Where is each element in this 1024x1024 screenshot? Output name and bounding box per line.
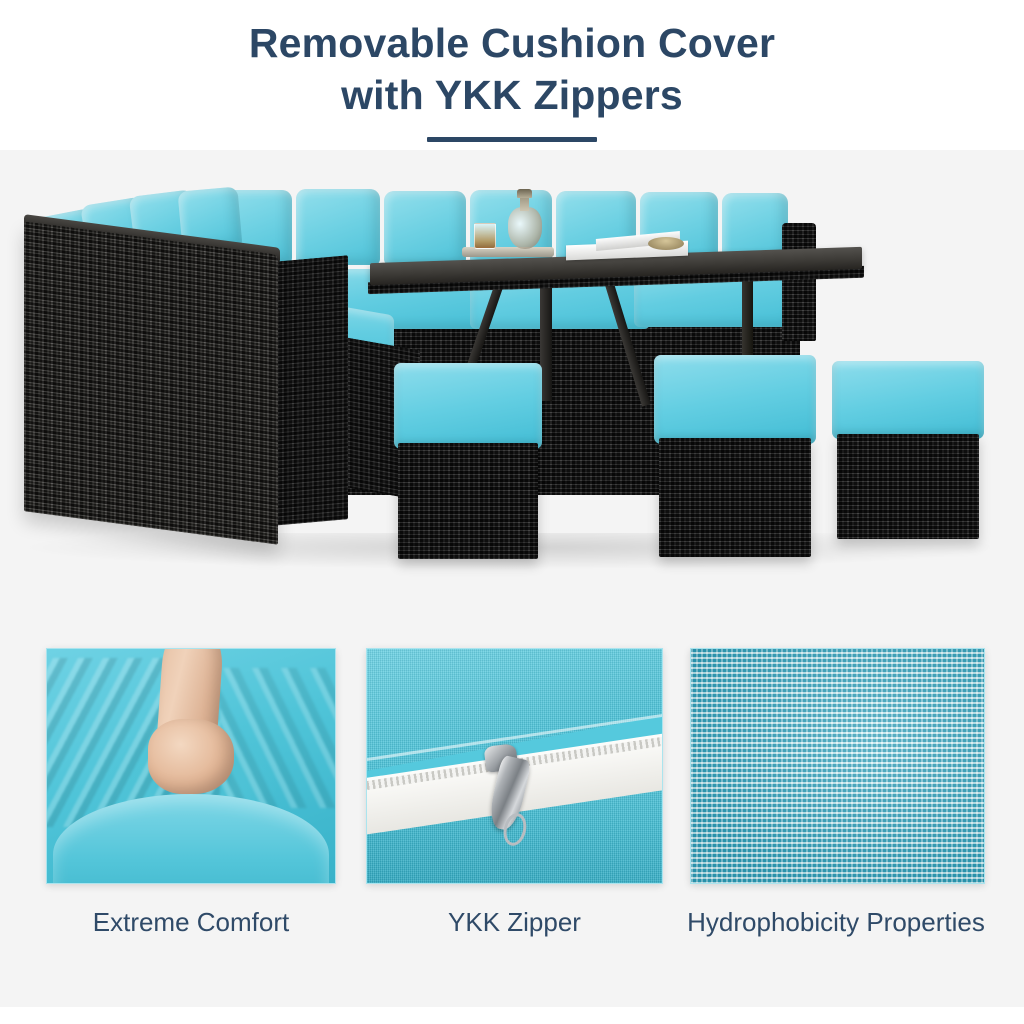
ottoman-3 [832, 361, 984, 539]
caption-extreme-comfort: Extreme Comfort [46, 902, 336, 942]
hero-product-image [0, 165, 1024, 620]
feature-image-ykk-zipper [366, 648, 663, 884]
header: Removable Cushion Cover with YKK Zippers [0, 18, 1024, 142]
snack-bowl [648, 237, 684, 250]
back-pillow [384, 191, 466, 265]
cushion-folds-right [220, 668, 336, 808]
ottoman-cushion [832, 361, 984, 439]
caption-hydrophobicity-properties: Hydrophobicity Properties [648, 902, 1024, 942]
decanter-stopper [517, 189, 532, 198]
caption-ykk-zipper: YKK Zipper [366, 902, 663, 942]
ottoman-1 [394, 363, 542, 559]
page-title-line-2: with YKK Zippers [0, 70, 1024, 122]
back-pillow [296, 189, 380, 265]
ottoman-base [659, 438, 811, 557]
sectional-left-arm [24, 221, 278, 544]
sectional-right-arm [782, 223, 816, 341]
feature-captions: Extreme Comfort YKK Zipper Hydrophobicit… [0, 902, 1024, 948]
feature-image-extreme-comfort [46, 648, 336, 884]
fabric-sheen [691, 649, 984, 883]
ottoman-cushion [394, 363, 542, 449]
glass-decanter [508, 207, 542, 249]
title-divider [427, 137, 597, 142]
infographic-page: Removable Cushion Cover with YKK Zippers [0, 0, 1024, 1024]
ottoman-cushion [654, 355, 816, 444]
page-title-line-1: Removable Cushion Cover [0, 18, 1024, 70]
fist [148, 719, 234, 794]
whisky-tumbler [474, 223, 496, 249]
ottoman-2 [654, 355, 816, 557]
ottoman-base [398, 443, 537, 559]
feature-image-hydrophobicity [690, 648, 985, 884]
feature-panels [0, 648, 1024, 884]
ottoman-base [837, 434, 980, 539]
